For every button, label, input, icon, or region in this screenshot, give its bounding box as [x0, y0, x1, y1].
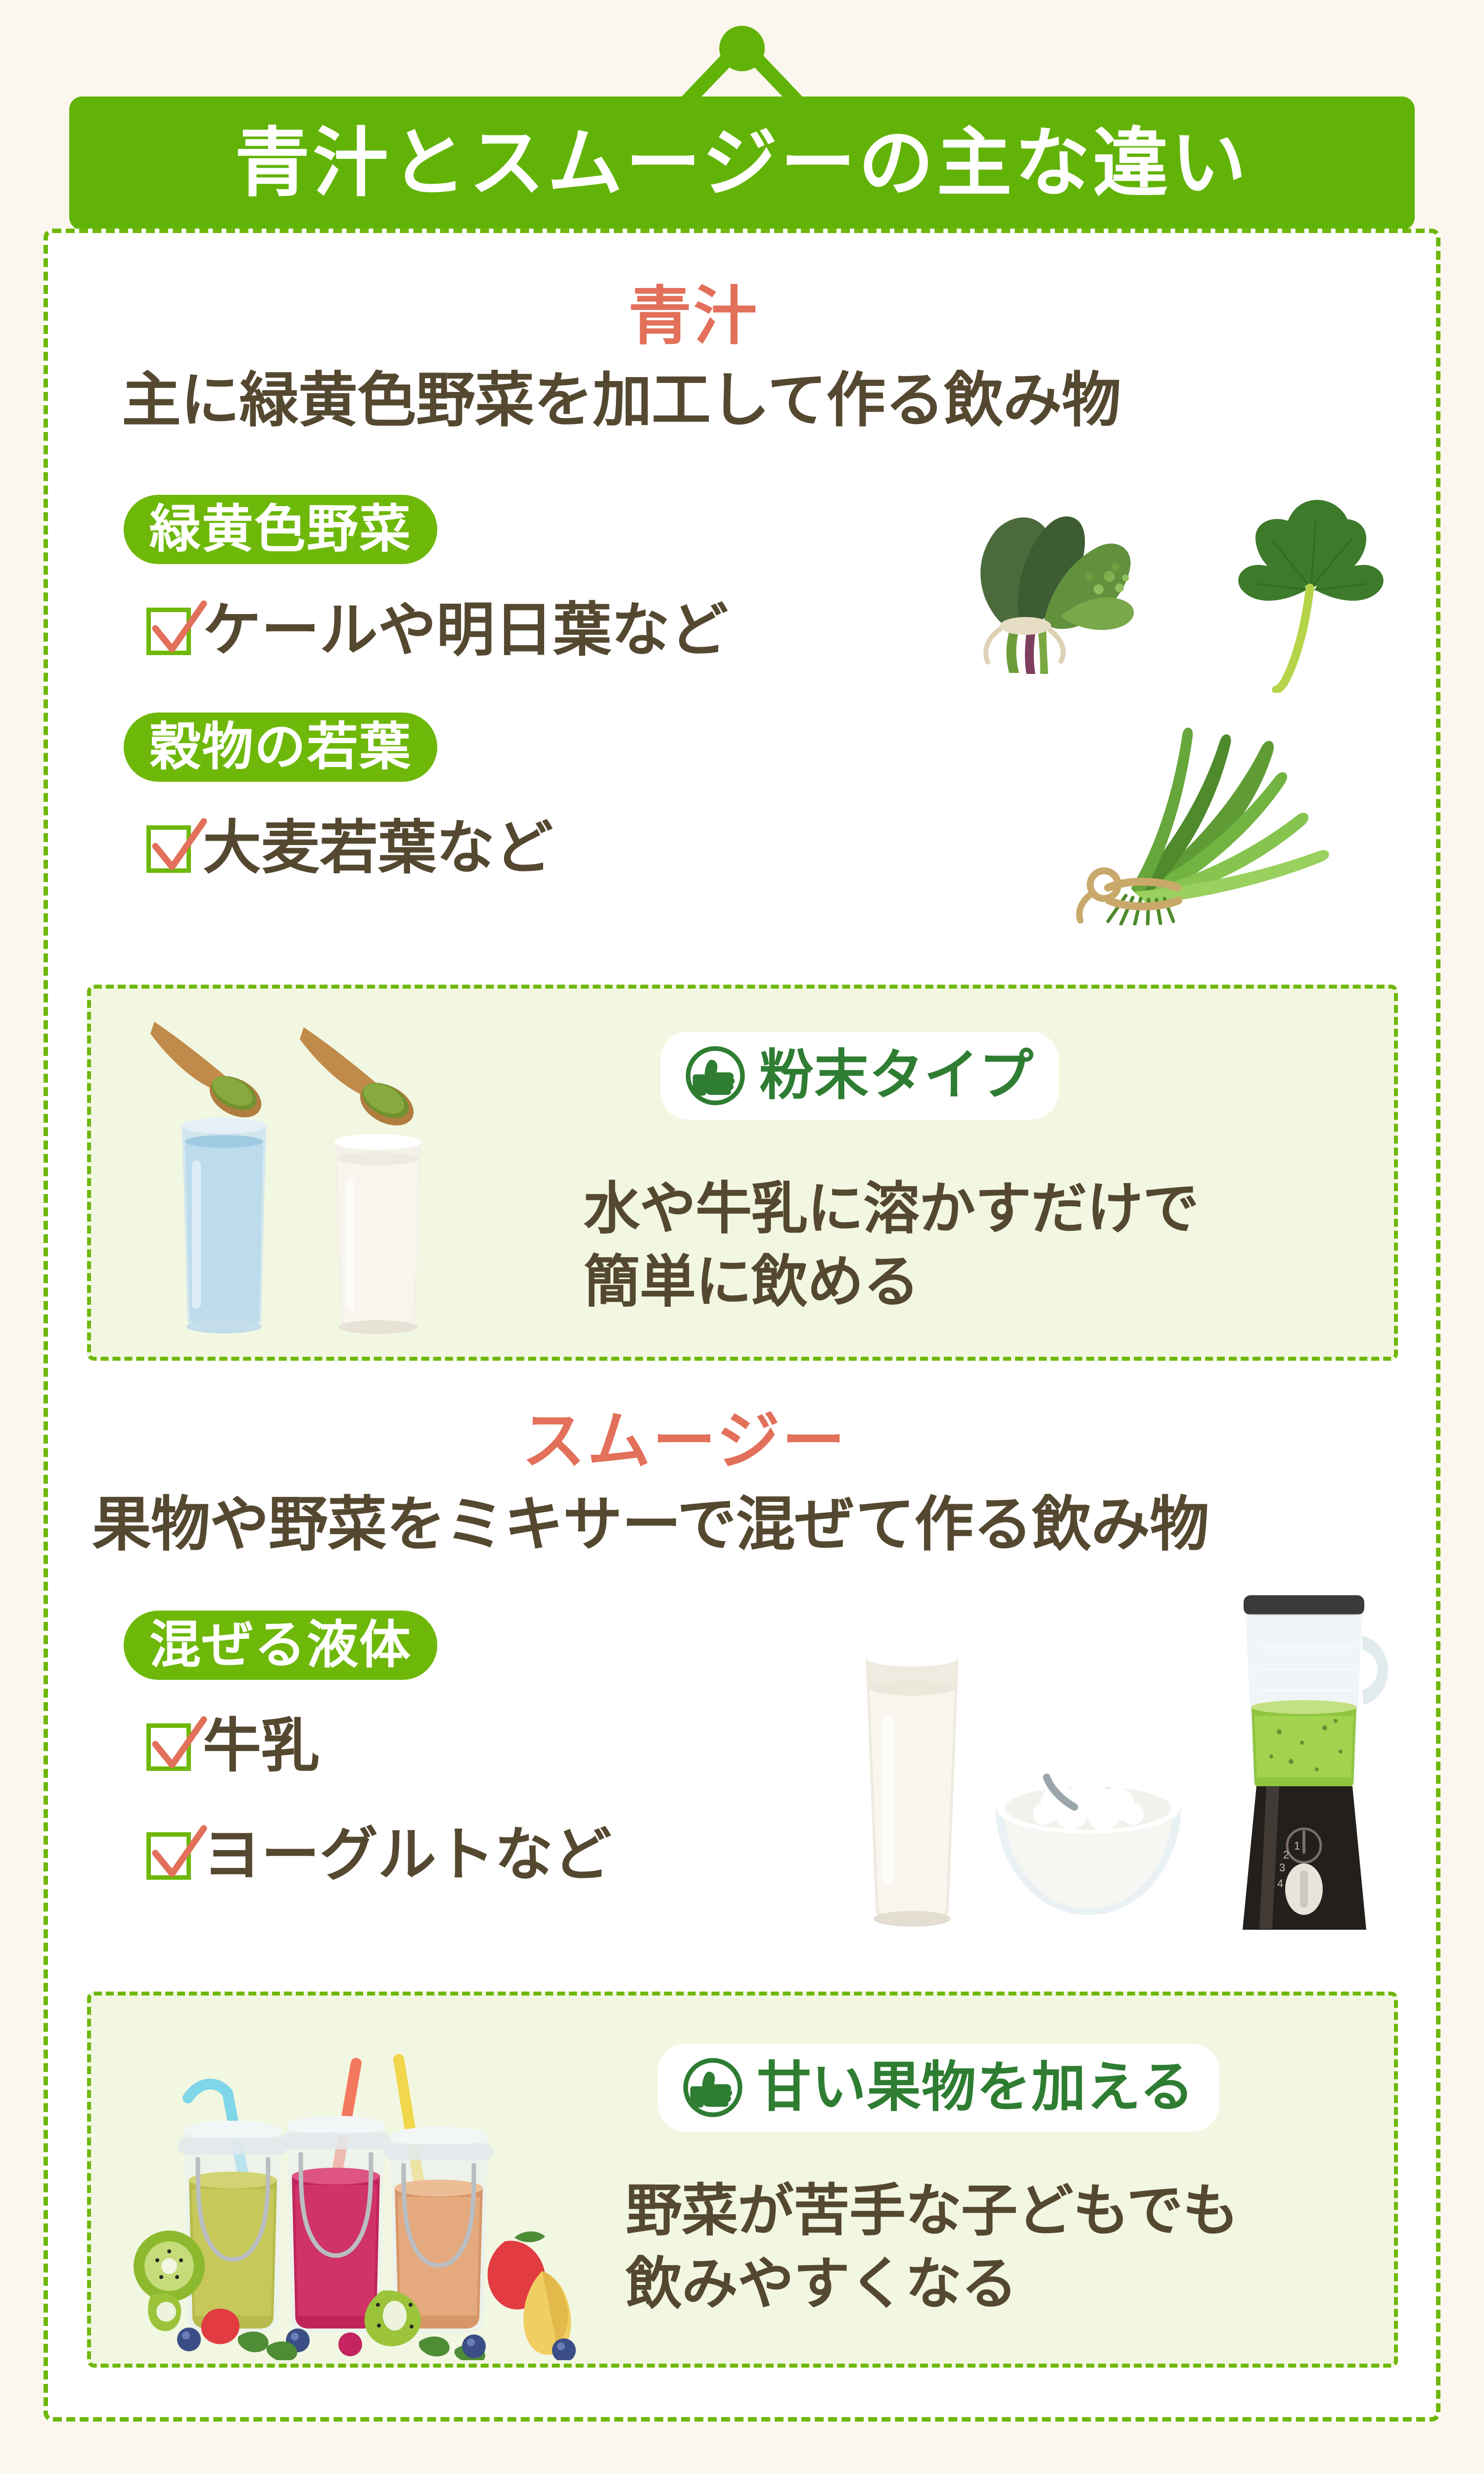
yogurt-bowl-photo — [984, 1766, 1192, 1940]
svg-text:3: 3 — [1279, 1861, 1285, 1874]
milk-glass-photo — [831, 1643, 994, 1930]
checkbox-checked-icon — [142, 822, 194, 874]
section-title-smoothie: スムージー — [522, 1389, 847, 1481]
checklist-item-yogurt[interactable]: ヨーグルトなど — [142, 1826, 611, 1884]
blender-green-smoothie-photo: 3421 — [1192, 1588, 1425, 1940]
checkbox-checked-icon — [142, 1829, 194, 1881]
powder-spoon-milk-glass-photo — [292, 1019, 460, 1336]
checklist-item-label: ヨーグルトなど — [203, 1826, 611, 1884]
svg-text:2: 2 — [1283, 1849, 1289, 1861]
aojiru-feature-body: 水や牛乳に溶かすだけで 簡単に飲める — [584, 1173, 1199, 1319]
hanger-icon — [0, 20, 1484, 109]
smoothie-feature-body: 野菜が苦手な子どもでも 飲みやすくなる — [626, 2175, 1238, 2321]
aojiru-feature-pill: 粉末タイプ — [660, 1032, 1059, 1120]
checklist-item-milk[interactable]: 牛乳 — [142, 1717, 320, 1775]
smoothie-feature-pill: 甘い果物を加える — [658, 2044, 1219, 2132]
checklist-item-kale[interactable]: ケールや明日葉など — [142, 601, 728, 660]
checkbox-checked-icon — [142, 1720, 194, 1772]
badge-kokumotsu-wakaba: 穀物の若葉 — [124, 713, 437, 782]
header-plate: 青汁とスムージーの主な違い — [69, 96, 1415, 230]
infographic-page: 青汁とスムージーの主な違い 青汁 主に緑黄色野菜を加工して作る飲み物 — [0, 0, 1484, 2474]
badge-label: 穀物の若葉 — [149, 721, 412, 773]
smoothie-lead: 果物や野菜をミキサーで混ぜて作る飲み物 — [85, 1490, 1215, 1561]
checklist-item-label: ケールや明日葉など — [203, 601, 728, 660]
checklist-item-label: 牛乳 — [203, 1717, 320, 1775]
ashitaba-leaf-photo — [1197, 485, 1425, 693]
aojiru-feature-label: 粉末タイプ — [759, 1048, 1034, 1103]
thumbs-up-icon — [682, 1043, 748, 1109]
barley-grass-bundle-photo — [1029, 688, 1365, 925]
aojiru-lead-text: 主に緑黄色野菜を加工して作る飲み物 — [115, 366, 1127, 436]
checklist-item-label: 大麦若葉など — [203, 819, 553, 877]
kale-bunch-photo — [913, 475, 1190, 683]
aojiru-lead: 主に緑黄色野菜を加工して作る飲み物 — [115, 366, 1127, 436]
page-title: 青汁とスムージーの主な違い — [235, 126, 1250, 201]
badge-label: 緑黄色野菜 — [149, 504, 412, 555]
checkbox-checked-icon — [142, 605, 194, 656]
powder-spoon-water-glass-photo — [143, 1012, 307, 1333]
badge-label: 混ぜる液体 — [149, 1619, 412, 1671]
section-title-aojiru: 青汁 — [628, 265, 759, 356]
svg-text:1: 1 — [1294, 1840, 1300, 1852]
badge-ryokuoushoku-yasai: 緑黄色野菜 — [124, 495, 437, 564]
thumbs-up-icon — [680, 2054, 746, 2121]
checklist-item-barley[interactable]: 大麦若葉など — [142, 819, 553, 877]
svg-text:4: 4 — [1277, 1877, 1283, 1890]
smoothie-feature-label: 甘い果物を加える — [757, 2060, 1195, 2115]
badge-mazeru-ekitai: 混ぜる液体 — [124, 1611, 437, 1680]
smoothie-lead-text: 果物や野菜をミキサーで混ぜて作る飲み物 — [85, 1490, 1215, 1561]
fruit-smoothie-jars-photo — [124, 2034, 618, 2360]
